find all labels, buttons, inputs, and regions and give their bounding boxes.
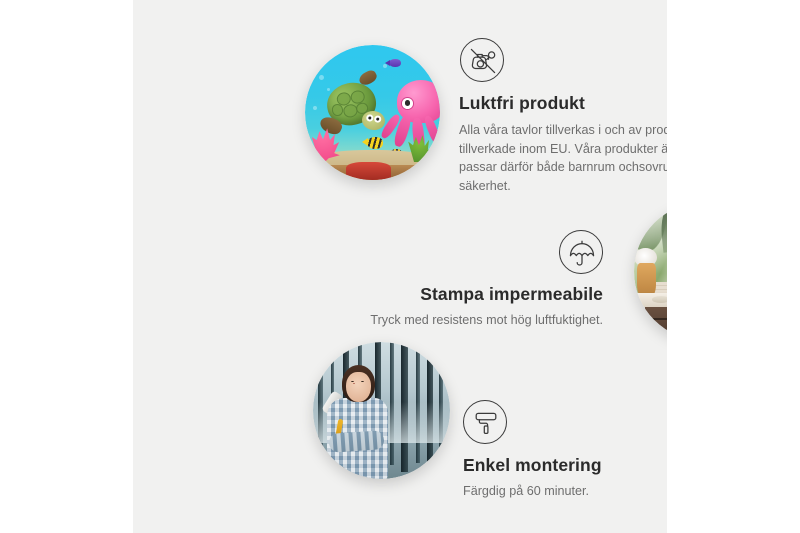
bathroom-artwork	[634, 203, 667, 340]
red-crab-icon	[346, 162, 392, 180]
icon-wrap	[463, 400, 667, 444]
purple-fish-icon	[389, 59, 401, 67]
forest-artwork	[313, 342, 450, 479]
fish-tail-icon	[385, 60, 390, 66]
umbrella-icon	[559, 230, 603, 274]
feature-mounting: Enkel montering Färgdig på 60 minuter.	[463, 400, 667, 501]
soap-dish-icon	[652, 296, 667, 303]
ocean-kids-mural-disc	[305, 45, 440, 180]
feature-title: Stampa impermeabile	[331, 284, 603, 305]
fish-tail-icon	[362, 138, 368, 146]
feature-title: Luktfri produkt	[459, 93, 667, 114]
paint-roller-icon	[463, 400, 507, 444]
forest-mural-installer-disc	[313, 342, 450, 479]
bubble-icon	[327, 88, 330, 91]
ocean-artwork	[305, 45, 440, 180]
promo-infographic: Luktfri produkt Alla våra tavlor tillver…	[0, 0, 800, 533]
shell-icon	[410, 167, 434, 179]
bubble-icon	[313, 106, 317, 110]
feature-title: Enkel montering	[463, 455, 667, 476]
feature-body: Tryck med resistens mot hög luftfuktighe…	[331, 311, 603, 330]
vanity-cabinet	[645, 307, 667, 340]
bubble-icon	[319, 75, 324, 80]
striped-fish-icon	[367, 137, 383, 149]
icon-wrap	[331, 230, 603, 274]
bathroom-leaf-wallpaper-disc	[634, 203, 667, 340]
content-panel: Luktfri produkt Alla våra tavlor tillver…	[133, 0, 667, 533]
no-fragrance-icon	[460, 38, 504, 82]
icon-wrap	[459, 38, 667, 82]
feature-body: Alla våra tavlor tillverkas i och av pro…	[459, 121, 667, 196]
feature-waterproof: Stampa impermeabile Tryck med resistens …	[331, 230, 603, 330]
feature-odourless: Luktfri produkt Alla våra tavlor tillver…	[459, 38, 667, 196]
feature-body: Färgdig på 60 minuter.	[463, 482, 667, 501]
face	[346, 372, 371, 402]
